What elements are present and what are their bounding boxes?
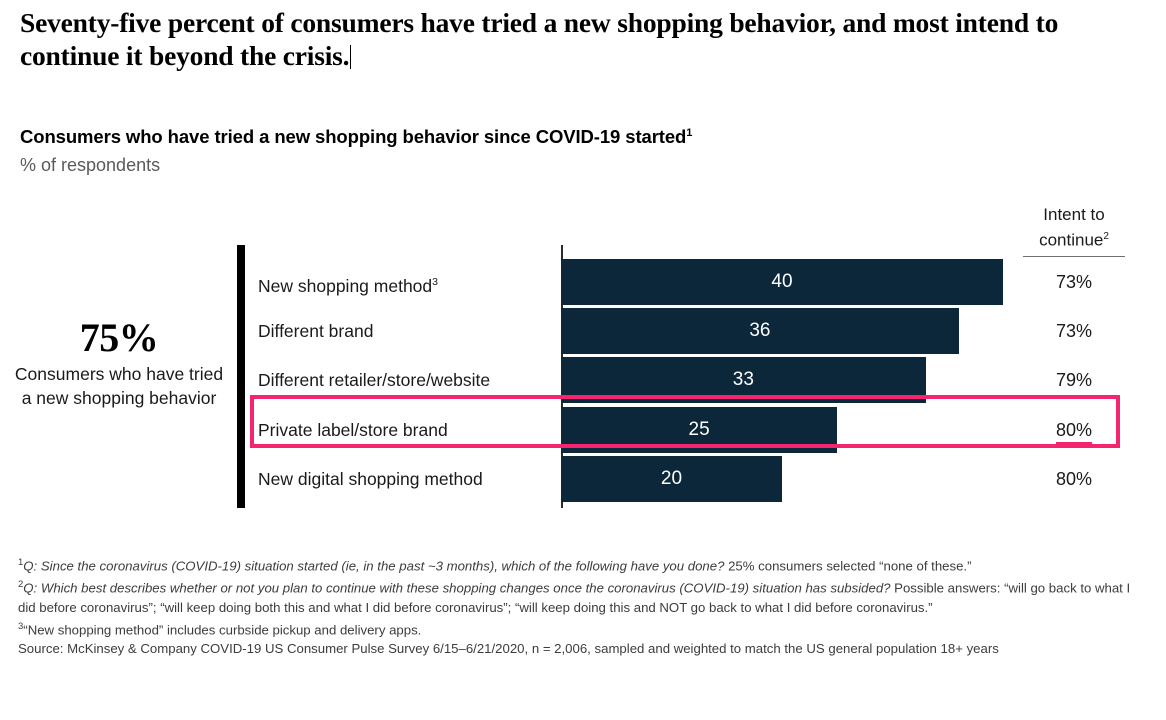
bar-value-0: 40	[561, 259, 1003, 305]
chart-value-axis	[561, 245, 563, 508]
intent-header-footnote-marker: 2	[1103, 231, 1109, 242]
bar-2	[561, 357, 926, 403]
intent-percent-value-1: 73%	[1056, 321, 1092, 341]
bar-1	[561, 308, 959, 354]
bar-label-4: New digital shopping method	[258, 456, 558, 502]
chart-left-rule	[237, 245, 245, 508]
bar-label-0: New shopping method3	[258, 259, 558, 309]
bar-3	[561, 407, 837, 453]
exhibit-title: Consumers who have tried a new shopping …	[20, 126, 692, 148]
bar-label-footnote-marker-0: 3	[432, 276, 438, 288]
stat-callout: 75% Consumers who have tried a new shopp…	[8, 316, 230, 410]
intent-percent-0: 73%	[1023, 259, 1125, 305]
footnote-2-question: Q: Which best describes whether or not y…	[23, 581, 890, 596]
footnote-1-rest: 25% consumers selected “none of these.”	[724, 558, 971, 573]
bar-label-3: Private label/store brand	[258, 407, 558, 453]
bar-value-1: 36	[561, 308, 959, 354]
bar-value-2: 33	[561, 357, 926, 403]
headline-text: Seventy-five percent of consumers have t…	[20, 7, 1058, 71]
callout-number: 75%	[8, 316, 230, 360]
footnote-1: 1Q: Since the coronavirus (COVID-19) sit…	[18, 553, 1138, 575]
intent-header-line-1: Intent to	[1043, 205, 1104, 224]
footnotes: 1Q: Since the coronavirus (COVID-19) sit…	[18, 553, 1138, 658]
intent-percent-3: 80%	[1023, 407, 1125, 453]
intent-percent-4: 80%	[1023, 456, 1125, 502]
bar-0	[561, 259, 1003, 305]
callout-description: Consumers who have tried a new shopping …	[8, 362, 230, 410]
source-line: Source: McKinsey & Company COVID-19 US C…	[18, 639, 1138, 658]
intent-percent-value-3: 80%	[1056, 420, 1092, 445]
intent-header-line-2: continue	[1039, 231, 1103, 250]
footnote-3-text: “New shopping method” includes curbside …	[23, 622, 421, 637]
highlight-box	[250, 395, 1120, 448]
footnote-2: 2Q: Which best describes whether or not …	[18, 575, 1138, 616]
footnote-1-question: Q: Since the coronavirus (COVID-19) situ…	[23, 558, 724, 573]
exhibit-units: % of respondents	[20, 155, 160, 176]
bar-label-2: Different retailer/store/website	[258, 357, 558, 403]
intent-percent-2: 79%	[1023, 357, 1125, 403]
intent-to-continue-header: Intent to continue2	[1023, 204, 1125, 257]
bar-4	[561, 456, 782, 502]
intent-percent-value-0: 73%	[1056, 272, 1092, 292]
bar-label-1: Different brand	[258, 308, 558, 354]
exhibit-title-text: Consumers who have tried a new shopping …	[20, 126, 686, 147]
intent-percent-1: 73%	[1023, 308, 1125, 354]
page-headline: Seventy-five percent of consumers have t…	[20, 6, 1080, 72]
exhibit-title-footnote-marker: 1	[686, 127, 692, 139]
bar-value-3: 25	[561, 407, 837, 453]
intent-percent-value-2: 79%	[1056, 370, 1092, 390]
text-caret	[350, 45, 351, 69]
footnote-3: 3“New shopping method” includes curbside…	[18, 617, 1138, 639]
intent-percent-value-4: 80%	[1056, 469, 1092, 489]
bar-value-4: 20	[561, 456, 782, 502]
